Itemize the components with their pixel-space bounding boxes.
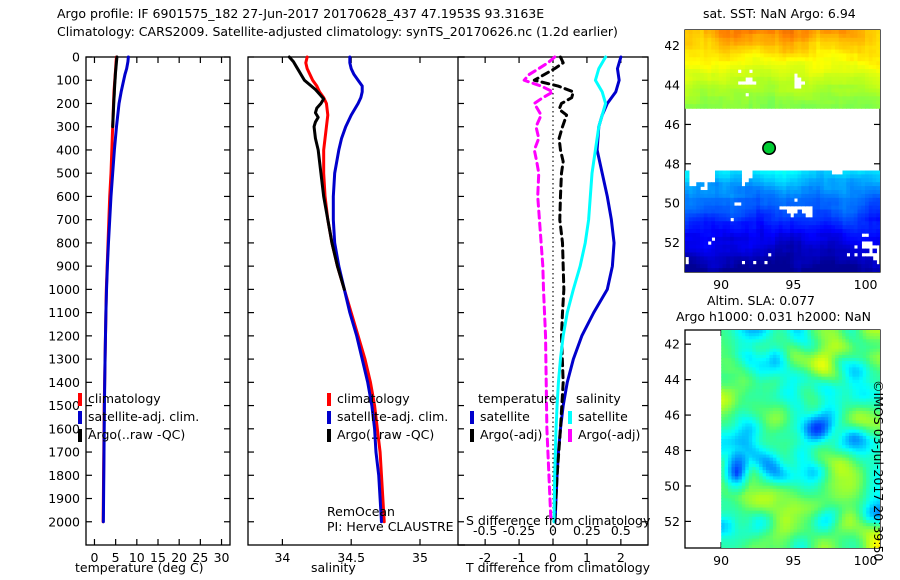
- svg-text:1600: 1600: [48, 421, 80, 436]
- svg-text:-52: -52: [665, 235, 680, 250]
- provider-pi: PI: Herve CLAUSTRE: [327, 519, 454, 534]
- legend-label-salinity-argo: Argo(-adj): [578, 427, 640, 442]
- legend-label-satellite-adj: satellite-adj. clim.: [337, 409, 448, 424]
- svg-text:100: 100: [56, 73, 80, 88]
- legend-header-salinity: salinity: [576, 391, 621, 406]
- svg-text:-46: -46: [665, 117, 680, 132]
- temperature-plot-svg: 0510152025300100200300400500600700800900…: [0, 0, 240, 580]
- provider-name: RemOcean: [327, 504, 395, 519]
- legend-label-climatology: climatology: [88, 391, 161, 406]
- legend-swatch-argo: [327, 429, 331, 442]
- panel-salinity: 3434.53535.536: [240, 0, 465, 580]
- svg-text:-48: -48: [665, 443, 680, 458]
- map-sst[interactable]: 9095100-42-44-46-48-50-52: [665, 20, 900, 295]
- difference-bottom-axis-label: T difference from climatology: [466, 560, 650, 575]
- svg-text:1300: 1300: [48, 352, 80, 367]
- svg-text:35: 35: [412, 550, 428, 565]
- svg-text:200: 200: [56, 96, 80, 111]
- legend-label-argo: Argo(..raw -QC): [88, 427, 185, 442]
- svg-text:-44: -44: [665, 372, 680, 387]
- svg-text:1000: 1000: [48, 282, 80, 297]
- svg-text:700: 700: [56, 212, 80, 227]
- svg-text:2000: 2000: [48, 514, 80, 529]
- svg-text:95: 95: [785, 553, 801, 568]
- svg-text:-52: -52: [665, 514, 680, 529]
- svg-text:900: 900: [56, 259, 80, 274]
- svg-text:800: 800: [56, 235, 80, 250]
- legend-label-temperature-satellite: satellite: [480, 409, 530, 424]
- panel-temperature: 0510152025300100200300400500600700800900…: [0, 0, 240, 580]
- svg-text:1200: 1200: [48, 328, 80, 343]
- svg-text:30: 30: [214, 550, 230, 565]
- svg-text:600: 600: [56, 189, 80, 204]
- legend-label-temperature-argo: Argo(-adj): [480, 427, 542, 442]
- difference-plot-svg: -2-1012-0.5-0.2500.250.5: [440, 0, 665, 580]
- copyright-stamp: ©IMOS 03-Jul-2017 20:39:50: [886, 380, 900, 395]
- svg-text:-50: -50: [665, 478, 680, 493]
- svg-text:1900: 1900: [48, 491, 80, 506]
- salinity-xaxis-label: salinity: [311, 560, 356, 575]
- map-sst-title: sat. SST: NaN Argo: 6.94: [703, 6, 856, 21]
- svg-text:-42: -42: [665, 337, 680, 352]
- legend-label-satellite-adj: satellite-adj. clim.: [88, 409, 199, 424]
- legend-swatch-argo: [78, 429, 82, 442]
- legend-swatch-climatology: [327, 393, 331, 406]
- legend-swatch-temperature-argo: [470, 429, 474, 442]
- legend-header-temperature: temperature: [478, 391, 557, 406]
- svg-text:95: 95: [785, 277, 801, 292]
- map-sla-title-line1: Altim. SLA: 0.077: [707, 293, 815, 308]
- svg-text:1800: 1800: [48, 468, 80, 483]
- svg-text:34: 34: [274, 550, 290, 565]
- svg-text:1100: 1100: [48, 305, 80, 320]
- svg-text:-50: -50: [665, 196, 680, 211]
- difference-legend: temperature satellite Argo(-adj) salinit…: [478, 391, 658, 447]
- temperature-xaxis-label: temperature (deg C): [75, 560, 204, 575]
- svg-text:1700: 1700: [48, 445, 80, 460]
- legend-swatch-satellite-adj: [78, 411, 82, 424]
- legend-label-salinity-satellite: satellite: [578, 409, 628, 424]
- salinity-plot-svg: 3434.53535.536: [240, 0, 465, 580]
- legend-label-climatology: climatology: [337, 391, 410, 406]
- svg-text:500: 500: [56, 166, 80, 181]
- panel-difference: -2-1012-0.5-0.2500.250.5: [440, 0, 665, 580]
- svg-text:-42: -42: [665, 38, 680, 53]
- svg-text:1500: 1500: [48, 398, 80, 413]
- svg-text:-46: -46: [665, 408, 680, 423]
- svg-text:100: 100: [854, 277, 878, 292]
- copyright-text: ©IMOS 03-Jul-2017 20:39:50: [871, 380, 886, 561]
- svg-text:300: 300: [56, 119, 80, 134]
- temperature-legend: climatology satellite-adj. clim. Argo(..…: [78, 391, 228, 447]
- legend-swatch-salinity-argo: [568, 429, 572, 442]
- map-sla[interactable]: 9095100-42-44-46-48-50-52: [665, 322, 900, 572]
- svg-text:90: 90: [713, 553, 729, 568]
- legend-swatch-temperature-satellite: [470, 411, 474, 424]
- svg-text:0: 0: [72, 50, 80, 65]
- svg-text:-44: -44: [665, 78, 680, 93]
- map-sla-svg: 9095100-42-44-46-48-50-52: [665, 322, 900, 572]
- difference-top-axis-label: S difference from climatology: [466, 513, 650, 528]
- map-sst-svg: 9095100-42-44-46-48-50-52: [665, 20, 900, 295]
- svg-text:90: 90: [713, 277, 729, 292]
- legend-label-argo: Argo(..raw -QC): [337, 427, 434, 442]
- legend-swatch-salinity-satellite: [568, 411, 572, 424]
- svg-text:400: 400: [56, 142, 80, 157]
- svg-text:1400: 1400: [48, 375, 80, 390]
- svg-text:-48: -48: [665, 156, 680, 171]
- legend-swatch-climatology: [78, 393, 82, 406]
- legend-swatch-satellite-adj: [327, 411, 331, 424]
